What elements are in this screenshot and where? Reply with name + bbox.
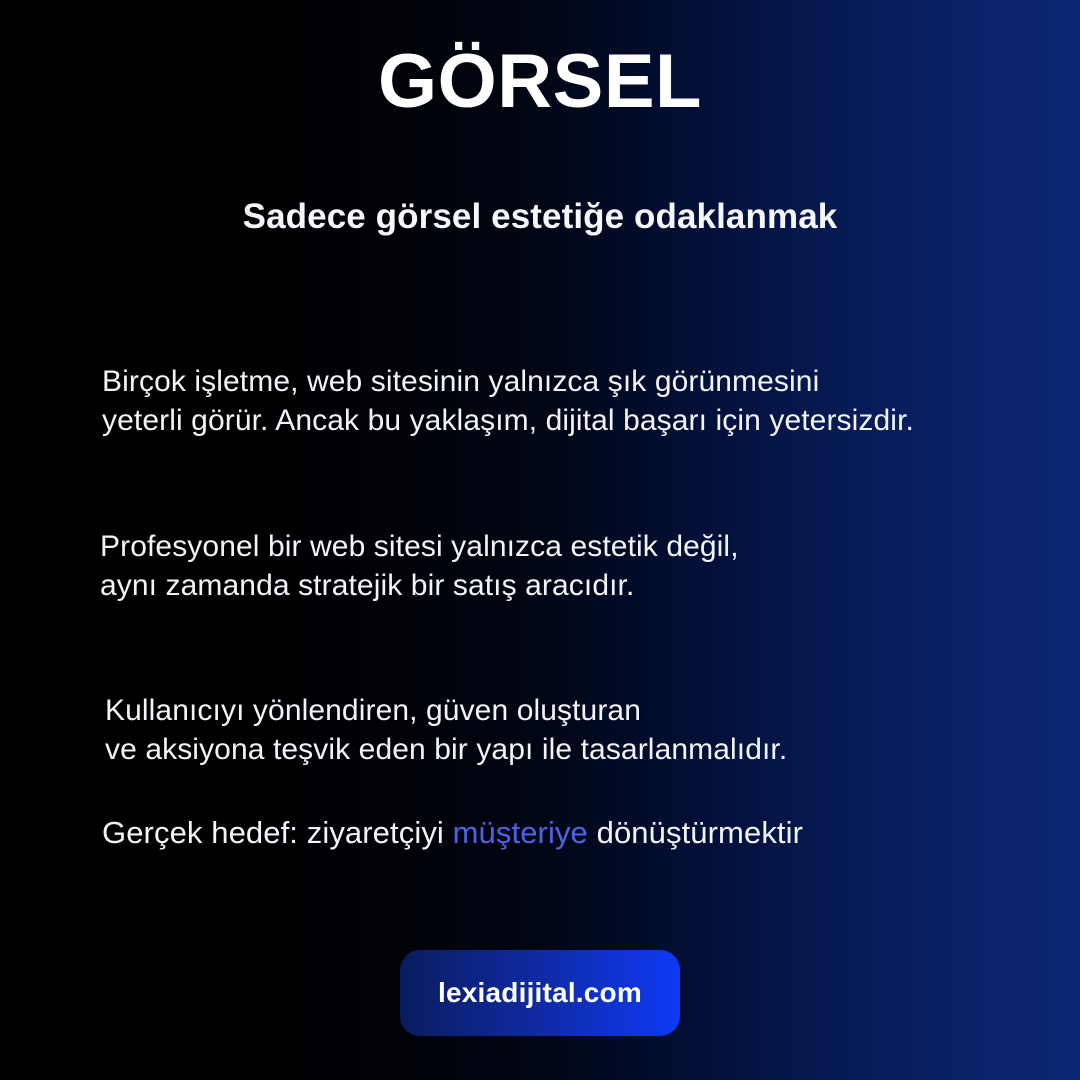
slide-canvas: GÖRSEL Sadece görsel estetiğe odaklanmak… (0, 0, 1080, 1080)
body-paragraph-2: Profesyonel bir web sitesi yalnızca este… (100, 527, 1060, 605)
title-container: GÖRSEL (0, 42, 1080, 122)
page-title: GÖRSEL (378, 42, 702, 122)
conclusion-accent-word: müşteriye (453, 815, 588, 850)
website-cta-button[interactable]: lexiadijital.com (400, 950, 680, 1036)
cta-container: lexiadijital.com (400, 950, 680, 1036)
cta-label: lexiadijital.com (438, 977, 642, 1009)
subtitle-container: Sadece görsel estetiğe odaklanmak (0, 196, 1080, 238)
conclusion-line: Gerçek hedef: ziyaretçiyi müşteriye dönü… (102, 813, 1042, 853)
conclusion-prefix: Gerçek hedef: ziyaretçiyi (102, 815, 453, 850)
body-text-block: Birçok işletme, web sitesinin yalnızca ş… (100, 362, 1060, 769)
conclusion-suffix: dönüştürmektir (588, 815, 803, 850)
body-paragraph-3: Kullanıcıyı yönlendiren, güven oluşturan… (105, 691, 1060, 769)
page-subtitle: Sadece görsel estetiğe odaklanmak (243, 196, 838, 238)
body-paragraph-1: Birçok işletme, web sitesinin yalnızca ş… (102, 362, 1060, 440)
